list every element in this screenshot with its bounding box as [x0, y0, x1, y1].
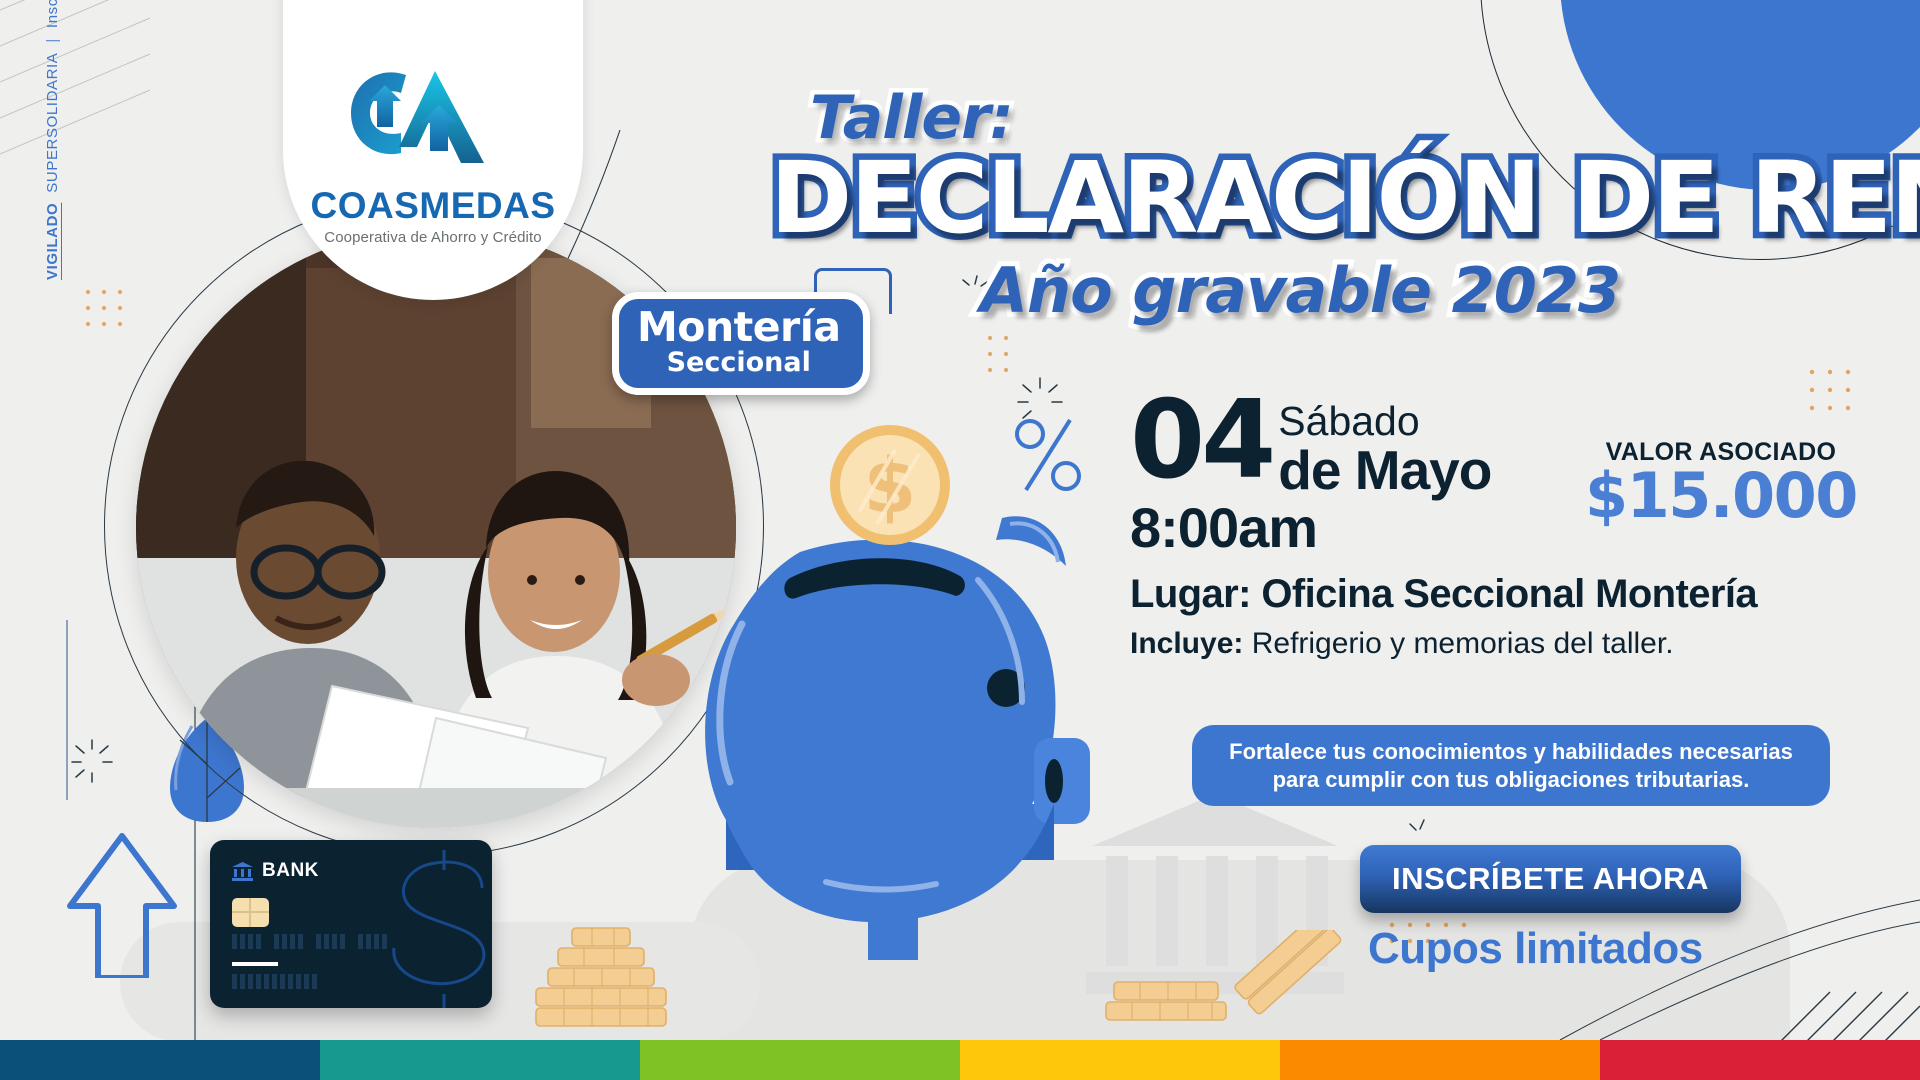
headline-kicker: Taller:: [810, 88, 1910, 148]
arrow-up-outline-icon: [62, 828, 182, 978]
event-includes: Incluye: Refrigerio y memorias del talle…: [1130, 627, 1900, 661]
bar-green: [640, 1040, 960, 1080]
badge-kind: Seccional: [637, 349, 841, 376]
card-bank-label: BANK: [262, 860, 319, 882]
event-weekday: Sábado: [1278, 401, 1491, 443]
price-amount: $15.000: [1585, 465, 1857, 527]
card-number-blocks: [232, 934, 396, 949]
legal-vertical-text: VIGILADO SUPERSOLIDARIA | Inscrita a FOG…: [44, 0, 61, 280]
headline-subtitle: Año gravable 2023: [980, 260, 1910, 322]
event-date-right: Sábado de Mayo: [1278, 395, 1491, 498]
card-chip-icon: [232, 898, 269, 927]
card-white-line: [232, 962, 278, 966]
page-title: DECLARACIÓN DE RENTA: [770, 152, 1910, 246]
headline-block: Taller: DECLARACIÓN DE RENTA Año gravabl…: [770, 88, 1910, 322]
bar-orange: [1280, 1040, 1600, 1080]
price-block: VALOR ASOCIADO $15.000: [1585, 438, 1857, 527]
badge-city: Montería: [637, 307, 841, 348]
event-day: 04: [1130, 395, 1272, 488]
dollar-sign-watermark-icon: [306, 844, 492, 1008]
legal-supervisor: SUPERSOLIDARIA: [44, 53, 61, 193]
bar-red: [1600, 1040, 1920, 1080]
svg-text:$: $: [864, 441, 917, 530]
coin-stack-icon: [528, 912, 678, 1032]
card-name-blocks: [232, 974, 317, 989]
event-includes-text: Refrigerio y memorias del taller.: [1252, 627, 1674, 660]
logo-tagline: Cooperativa de Ahorro y Crédito: [324, 229, 541, 246]
gold-coin-dollar-icon: $: [825, 420, 955, 550]
bar-dark-teal: [0, 1040, 320, 1080]
legal-vigilado: VIGILADO: [44, 203, 61, 280]
logo-wordmark: COASMEDAS: [310, 187, 555, 224]
coin-stack-icon: [1100, 930, 1350, 1040]
legal-inscrita: Inscrita a FOGACOOP: [44, 0, 61, 28]
callout-line-2: para cumplir con tus obligaciones tribut…: [1212, 766, 1810, 794]
bottom-color-bar: [0, 1040, 1920, 1080]
limited-slots-note: Cupos limitados: [1368, 924, 1703, 974]
event-month: de Mayo: [1278, 443, 1491, 498]
event-place: Lugar: Oficina Seccional Montería: [1130, 572, 1900, 617]
bank-card-graphic: BANK: [210, 840, 492, 1008]
event-includes-label: Incluye:: [1130, 627, 1243, 660]
seccional-badge: Montería Seccional: [612, 292, 870, 395]
card-brand: BANK: [232, 860, 319, 882]
register-button[interactable]: INSCRÍBETE AHORA: [1360, 845, 1741, 913]
piggy-bank-icon: [630, 490, 1190, 1000]
poster-canvas: VIGILADO SUPERSOLIDARIA | Inscrita a FOG…: [0, 0, 1920, 1080]
coasmedas-ca-arrows-logo-icon: [343, 61, 523, 179]
percent-icon: [1010, 412, 1086, 498]
bank-columns-icon: [232, 862, 253, 881]
callout-line-1: Fortalece tus conocimientos y habilidade…: [1212, 738, 1810, 766]
bar-teal: [320, 1040, 640, 1080]
callout-banner: Fortalece tus conocimientos y habilidade…: [1192, 725, 1830, 806]
brand-logo-badge: COASMEDAS Cooperativa de Ahorro y Crédit…: [283, 0, 583, 300]
bar-yellow: [960, 1040, 1280, 1080]
legal-separator: |: [44, 38, 61, 43]
